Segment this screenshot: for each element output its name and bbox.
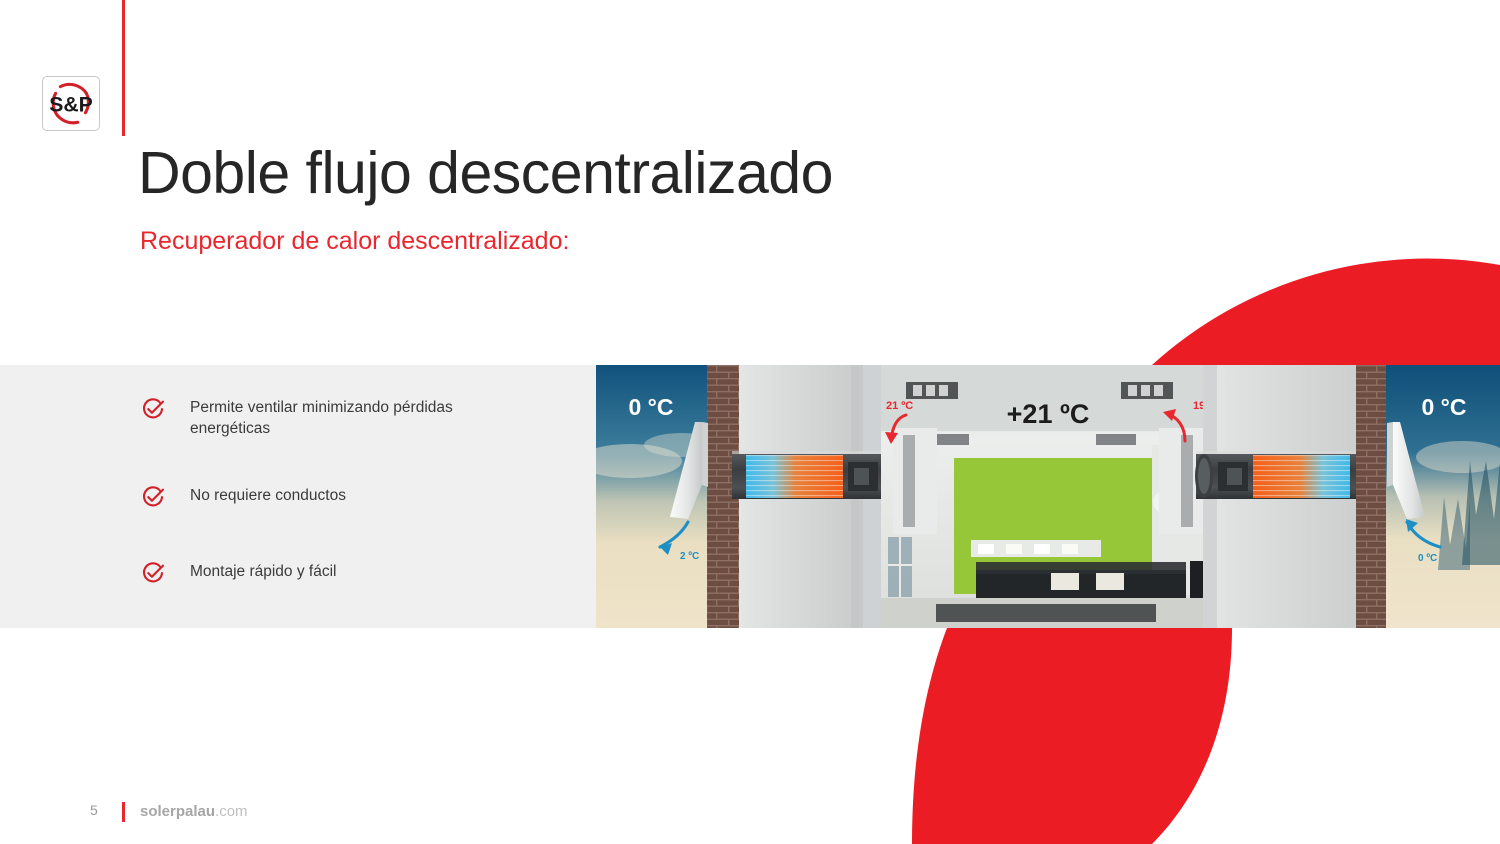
list-item: No requiere conductos — [140, 484, 560, 510]
list-item-label: Montaje rápido y fácil — [190, 560, 336, 582]
svg-text:0 °C: 0 °C — [1422, 394, 1467, 420]
soler-palau-logo: S&P — [42, 76, 100, 131]
page-number: 5 — [90, 802, 98, 818]
list-item: Permite ventilar minimizando pérdidas en… — [140, 396, 560, 440]
check-circle-icon — [140, 560, 166, 586]
feature-list: Permite ventilar minimizando pérdidas en… — [140, 396, 560, 586]
footer-brand: solerpalau.com — [140, 803, 248, 820]
list-item-label: Permite ventilar minimizando pérdidas en… — [190, 396, 490, 440]
footer-brand-name: solerpalau — [140, 803, 215, 820]
hrv-illustration: 2 ºC — [596, 365, 1500, 628]
svg-text:0 ºC: 0 ºC — [1418, 553, 1437, 564]
slide-title: Doble flujo descentralizado — [138, 143, 833, 203]
check-circle-icon — [140, 396, 166, 422]
svg-text:S&P: S&P — [49, 94, 93, 117]
header-accent-rule — [122, 0, 125, 136]
svg-text:21 ºC: 21 ºC — [886, 400, 913, 412]
list-item: Montaje rápido y fácil — [140, 560, 560, 586]
svg-text:+21 ºC: +21 ºC — [1007, 399, 1090, 429]
slide: S&P Doble flujo descentralizado Recupera… — [0, 0, 1500, 844]
list-item-label: No requiere conductos — [190, 484, 346, 506]
svg-text:2 ºC: 2 ºC — [680, 551, 699, 562]
check-circle-icon — [140, 484, 166, 510]
slide-subtitle: Recuperador de calor descentralizado: — [140, 228, 569, 256]
svg-text:0 °C: 0 °C — [629, 394, 674, 420]
footer-brand-tld: .com — [215, 803, 248, 820]
logo-mark: S&P — [43, 77, 99, 130]
footer-accent-rule — [122, 802, 125, 822]
